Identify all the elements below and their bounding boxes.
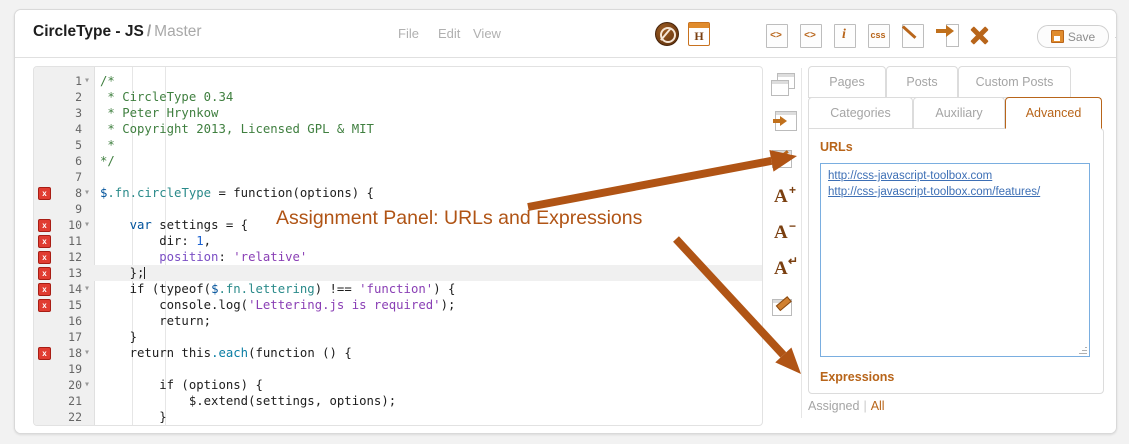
line-number: 4 [34,121,82,137]
code-line[interactable]: x11 dir: 1, [34,233,762,249]
line-number: 14 [34,281,82,297]
line-number: 13 [34,265,82,281]
line-number: 22 [34,409,82,425]
filter-assigned[interactable]: Assigned [808,399,859,413]
code-line[interactable]: 22 } [34,409,762,425]
code-line[interactable]: 4 * Copyright 2013, Licensed GPL & MIT [34,121,762,137]
code-line[interactable]: 2 * CircleType 0.34 [34,89,762,105]
code-line[interactable]: x18▾ return this.each(function () { [34,345,762,361]
code-text: var settings = { [100,217,248,233]
code-text: dir: 1, [100,233,211,249]
resize-handle-icon[interactable] [1079,346,1087,354]
code-line[interactable]: 21 $.extend(settings, options); [34,393,762,409]
assignment-panel: Pages Posts Custom Posts Categories Auxi… [808,66,1104,424]
code-text: console.log('Lettering.js is required'); [100,297,455,313]
code-line[interactable]: x14▾ if (typeof($.fn.lettering) !== 'fun… [34,281,762,297]
panel-tabs-row-1: Pages Posts Custom Posts [808,66,1104,97]
disable-circle-icon[interactable] [655,22,679,46]
expressions-heading: Expressions [820,370,894,384]
code-line[interactable]: x8▾$.fn.circleType = function(options) { [34,185,762,201]
css-doc-icon[interactable]: css [865,22,892,47]
code-text: $.fn.circleType = function(options) { [100,185,374,201]
line-number: 8 [34,185,82,201]
font-decrease-icon[interactable]: A− [770,220,798,246]
code-line[interactable]: 20▾ if (options) { [34,377,762,393]
duplicate-pages-icon[interactable] [770,72,798,98]
code-line[interactable]: 6*/ [34,153,762,169]
code-text: * CircleType 0.34 [100,89,233,105]
project-name: CircleType - JS [33,23,144,40]
line-number: 17 [34,329,82,345]
code-line[interactable]: 5 * [34,137,762,153]
info-doc-icon[interactable]: i [831,22,858,47]
font-reset-icon[interactable]: A↵ [770,256,798,282]
urls-heading: URLs [820,140,853,154]
menu-file[interactable]: File [398,26,419,41]
filter-all[interactable]: All [871,399,885,413]
tab-auxiliary[interactable]: Auxiliary [913,97,1005,129]
line-number: 10 [34,217,82,233]
pen-doc-icon[interactable] [899,22,926,47]
font-increase-icon[interactable]: A+ [770,184,798,210]
assignment-filter: Assigned|All [808,399,885,413]
code-text: }; [100,265,145,281]
line-number: 21 [34,393,82,409]
code-line[interactable]: 16 return; [34,313,762,329]
menu-edit[interactable]: Edit [438,26,460,41]
title-separator: / [147,23,151,40]
line-number: 19 [34,361,82,377]
code-text: * [100,137,115,153]
vertical-toolbar: A+ A− A↵ [767,68,802,418]
chevron-up-icon[interactable] [1115,32,1117,38]
annotation-label: Assignment Panel: URLs and Expressions [276,207,642,230]
code-line[interactable]: 19 [34,361,762,377]
code-text: $.extend(settings, options); [100,393,396,409]
save-button[interactable]: Save [1037,25,1109,48]
export-grid-icon[interactable] [933,22,960,47]
html-doc-icon[interactable]: H [688,22,712,46]
line-number: 1 [34,73,82,89]
code-line[interactable]: 17 } [34,329,762,345]
line-number: 3 [34,105,82,121]
fold-toggle-icon[interactable]: ▾ [84,185,90,201]
code-text: * Peter Hrynkow [100,105,218,121]
line-number: 9 [34,201,82,217]
fold-toggle-icon[interactable]: ▾ [84,377,90,393]
paint-brush-icon[interactable] [770,146,798,172]
save-button-label: Save [1068,30,1095,44]
tab-pages[interactable]: Pages [808,66,886,98]
line-number: 15 [34,297,82,313]
code-export-doc-icon[interactable]: <> [797,22,824,47]
page-title: CircleType - JS/Master [33,23,202,41]
code-text: /* [100,73,115,89]
code-line[interactable]: x12 position: 'relative' [34,249,762,265]
code-text: position: 'relative' [100,249,307,265]
code-doc-icon[interactable]: <> [763,22,790,47]
code-text: if (options) { [100,377,263,393]
code-text: return this.each(function () { [100,345,352,361]
code-text: */ [100,153,115,169]
advanced-tab-content: URLs http://css-javascript-toolbox.com h… [808,128,1104,394]
fold-toggle-icon[interactable]: ▾ [84,217,90,233]
fold-toggle-icon[interactable]: ▾ [84,345,90,361]
line-number: 12 [34,249,82,265]
branch-name: Master [154,23,201,40]
code-text: } [100,409,167,425]
window-header: CircleType - JS/Master File Edit View H … [15,10,1116,58]
code-line[interactable]: 7 [34,169,762,185]
filter-separator: | [863,399,866,413]
line-number: 11 [34,233,82,249]
code-text: return; [100,313,211,329]
code-editor[interactable]: 1▾/*2 * CircleType 0.343 * Peter Hrynkow… [33,66,763,426]
urls-textarea[interactable]: http://css-javascript-toolbox.com http:/… [820,163,1090,357]
line-number: 2 [34,89,82,105]
fold-toggle-icon[interactable]: ▾ [84,73,90,89]
text-caret [144,267,145,279]
url-link[interactable]: http://css-javascript-toolbox.com/featur… [828,186,1040,198]
code-line[interactable]: 1▾/* [34,73,762,89]
line-number: 7 [34,169,82,185]
window-body: 1▾/*2 * CircleType 0.343 * Peter Hrynkow… [15,58,1116,433]
close-x-icon[interactable] [967,23,991,47]
line-number: 20 [34,377,82,393]
code-line[interactable]: x15 console.log('Lettering.js is require… [34,297,762,313]
line-number: 18 [34,345,82,361]
line-number: 5 [34,137,82,153]
code-text: * Copyright 2013, Licensed GPL & MIT [100,121,374,137]
menu-view[interactable]: View [473,26,501,41]
eraser-icon[interactable] [770,294,798,320]
tab-categories[interactable]: Categories [808,97,913,129]
code-line[interactable]: x13 }; [34,265,762,281]
code-line[interactable]: 3 * Peter Hrynkow [34,105,762,121]
code-text: if (typeof($.fn.lettering) !== 'function… [100,281,455,297]
tab-posts[interactable]: Posts [886,66,958,98]
tab-custom-posts[interactable]: Custom Posts [958,66,1071,98]
code-text: } [100,329,137,345]
export-page-icon[interactable] [770,108,798,134]
panel-tabs-row-2: Categories Auxiliary Advanced [808,97,1104,128]
line-number: 16 [34,313,82,329]
fold-toggle-icon[interactable]: ▾ [84,281,90,297]
tab-advanced[interactable]: Advanced [1005,97,1102,129]
floppy-disk-icon [1051,30,1064,43]
line-number: 6 [34,153,82,169]
url-link[interactable]: http://css-javascript-toolbox.com [828,170,992,182]
